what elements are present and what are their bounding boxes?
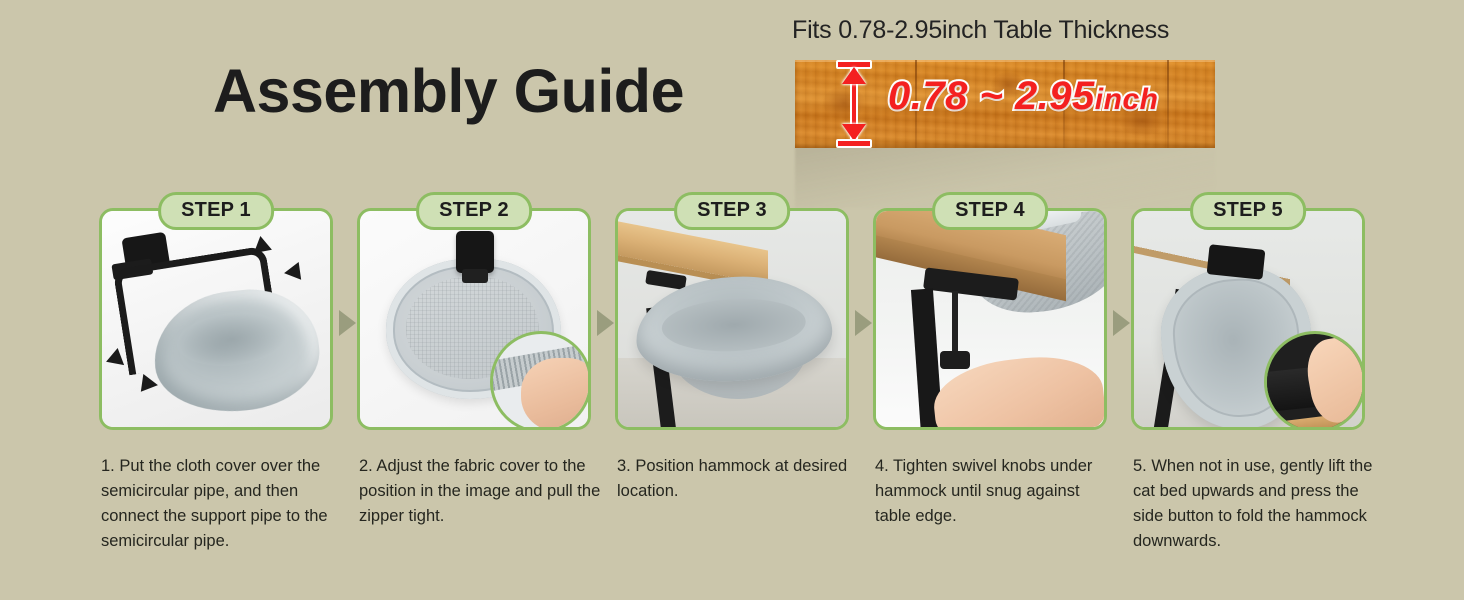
step-3-card[interactable] [615, 208, 849, 430]
step-4-card[interactable] [873, 208, 1107, 430]
connector-arrow-icon-4 [1113, 310, 1130, 336]
step-2-inset-zipper [490, 331, 591, 430]
step-2-card[interactable] [357, 208, 591, 430]
step-3-illustration [618, 211, 846, 427]
step-5-card[interactable] [1131, 208, 1365, 430]
step-1-caption: 1. Put the cloth cover over the semicirc… [101, 454, 345, 554]
step-5-inset-side-button [1264, 331, 1365, 430]
hand-graphic [521, 358, 591, 430]
step-1-badge: STEP 1 [158, 192, 274, 230]
table-thickness-banner: Fits 0.78-2.95inch Table Thickness 0.78 … [780, 16, 1220, 152]
direction-arrow-icon [141, 374, 159, 394]
banner-caption: Fits 0.78-2.95inch Table Thickness [792, 16, 1169, 45]
thickness-range-unit: inch [1095, 83, 1159, 116]
page-title: Assembly Guide [213, 56, 684, 126]
step-4-caption: 4. Tighten swivel knobs under hammock un… [875, 454, 1119, 529]
connector-arrow-icon-3 [855, 310, 872, 336]
step-3-badge: STEP 3 [674, 192, 790, 230]
finger-graphic [1302, 334, 1365, 427]
step-5-caption: 5. When not in use, gently lift the cat … [1133, 454, 1377, 554]
step-4-illustration [876, 211, 1104, 427]
step-1-card[interactable] [99, 208, 333, 430]
step-3-caption: 3. Position hammock at desired location. [617, 454, 861, 504]
direction-arrow-icon [283, 262, 301, 282]
step-5-badge: STEP 5 [1190, 192, 1306, 230]
thickness-range-label: 0.78 ~ 2.95inch [888, 74, 1158, 119]
step-4-badge: STEP 4 [932, 192, 1048, 230]
clamp-icon [456, 231, 494, 273]
assembly-guide-page: Assembly Guide Fits 0.78-2.95inch Table … [0, 0, 1464, 600]
step-2-badge: STEP 2 [416, 192, 532, 230]
step-2-illustration [360, 211, 588, 427]
swivel-knob-icon [940, 351, 970, 369]
connector-arrow-icon-1 [339, 310, 356, 336]
step-5-illustration [1134, 211, 1362, 427]
step-2-caption: 2. Adjust the fabric cover to the positi… [359, 454, 603, 529]
thickness-range-value: 0.78 ~ 2.95 [888, 74, 1095, 118]
connector-arrow-icon-2 [597, 310, 614, 336]
thickness-arrow-icon [835, 60, 873, 148]
steps-row: STEP 1 1. Put the cloth cover over the s… [0, 192, 1464, 592]
step-1-illustration [102, 211, 330, 427]
clamp-icon [1207, 244, 1266, 280]
